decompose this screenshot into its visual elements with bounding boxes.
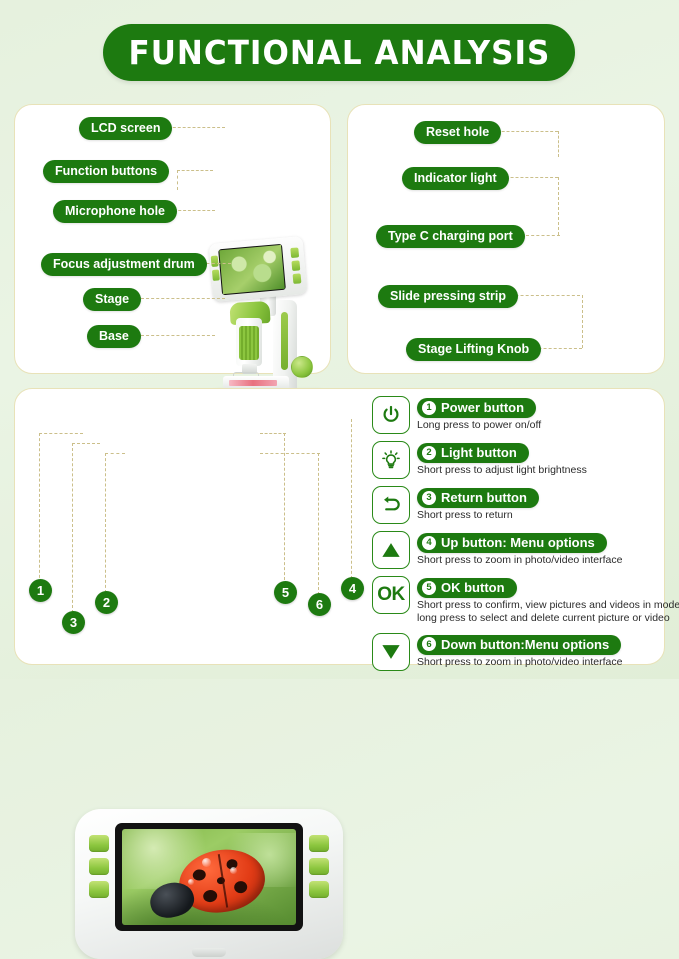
leader-line-callout-5	[284, 433, 285, 585]
callout-number-4: 4	[341, 577, 364, 600]
leader-line-function-buttons	[177, 170, 213, 171]
callout-number-6: 6	[308, 593, 331, 616]
label-focus-drum: Focus adjustment drum	[41, 253, 207, 276]
legend-label-up: Up button: Menu options	[441, 535, 595, 550]
label-lifting-knob: Stage Lifting Knob	[406, 338, 541, 361]
page-title: FUNCTIONAL ANALYSIS	[128, 33, 550, 72]
legend-pill-down: 6 Down button:Menu options	[417, 635, 621, 655]
label-stage: Stage	[83, 288, 141, 311]
ok-icon-text: OK	[377, 584, 405, 606]
callout-number-5: 5	[274, 581, 297, 604]
triangle-up-icon	[372, 531, 410, 569]
callout-number-3: 3	[62, 611, 85, 634]
page-title-banner: FUNCTIONAL ANALYSIS	[103, 24, 575, 81]
leader-line-typec-port	[526, 235, 560, 236]
leader-line-callout-6-h	[260, 453, 320, 454]
legend-badge-1: 1	[422, 401, 436, 415]
legend-desc-up: Short press to zoom in photo/video inter…	[417, 554, 662, 567]
legend-label-down: Down button:Menu options	[441, 637, 609, 652]
legend-label-ok: OK button	[441, 580, 505, 595]
leader-line-callout-3	[72, 443, 73, 613]
legend-badge-2: 2	[422, 446, 436, 460]
legend-row-light: 2 Light button Short press to adjust lig…	[372, 441, 662, 479]
legend-badge-5: 5	[422, 581, 436, 595]
infographic-page: FUNCTIONAL ANALYSIS	[0, 0, 679, 679]
device-button-5	[309, 858, 329, 875]
leader-line-callout-6	[318, 453, 319, 595]
callout-number-1: 1	[29, 579, 52, 602]
leader-line-callout-1-h	[39, 433, 83, 434]
legend-pill-light: 2 Light button	[417, 443, 529, 463]
leader-line-callout-1	[39, 433, 40, 583]
legend-desc-power: Long press to power on/off	[417, 419, 662, 432]
legend-badge-6: 6	[422, 637, 436, 651]
leader-line-stage	[141, 298, 225, 299]
label-lcd-screen: LCD screen	[79, 117, 172, 140]
lcd-head-part	[209, 236, 308, 302]
label-typec-port: Type C charging port	[376, 225, 525, 248]
panel-left: LCD screen Function buttons Microphone h…	[14, 104, 331, 374]
leader-line-callout-2-h	[105, 453, 125, 454]
legend-desc-down: Short press to zoom in photo/video inter…	[417, 656, 662, 669]
device-button-2	[89, 858, 109, 875]
device-button-6	[309, 881, 329, 898]
leader-line-base	[141, 335, 215, 336]
leader-line-lifting-knob-v	[582, 295, 583, 348]
button-legend-list: 1 Power button Long press to power on/of…	[372, 396, 662, 678]
legend-pill-power: 1 Power button	[417, 398, 536, 418]
legend-badge-4: 4	[422, 536, 436, 550]
legend-label-power: Power button	[441, 400, 524, 415]
legend-desc-ok: Short press to confirm, view pictures an…	[417, 599, 679, 612]
label-indicator-light: Indicator light	[402, 167, 509, 190]
legend-row-up: 4 Up button: Menu options Short press to…	[372, 531, 662, 569]
leader-line-callout-5-h	[260, 433, 286, 434]
device-button-4	[309, 835, 329, 852]
label-base: Base	[87, 325, 141, 348]
device-button-1	[89, 835, 109, 852]
legend-row-power: 1 Power button Long press to power on/of…	[372, 396, 662, 434]
focus-knob-part	[291, 356, 313, 378]
leader-line-callout-4	[351, 419, 352, 579]
lightbulb-icon	[372, 441, 410, 479]
legend-desc-light: Short press to adjust light brightness	[417, 464, 662, 477]
legend-label-light: Light button	[441, 445, 517, 460]
label-function-buttons: Function buttons	[43, 160, 169, 183]
leader-line-callout-2	[105, 453, 106, 593]
legend-pill-up: 4 Up button: Menu options	[417, 533, 607, 553]
screen-preview-image	[122, 829, 296, 925]
device-button-3	[89, 881, 109, 898]
leader-line-reset-hole	[492, 131, 558, 132]
return-arrow-icon	[372, 486, 410, 524]
ok-icon: OK	[372, 576, 410, 614]
leader-line-indicator-v	[558, 177, 559, 235]
panel-right: Reset hole Indicator light Type C chargi…	[347, 104, 665, 374]
triangle-down-icon	[372, 633, 410, 671]
legend-desc-return: Short press to return	[417, 509, 662, 522]
legend-label-return: Return button	[441, 490, 527, 505]
legend-row-ok: OK 5 OK button Short press to confirm, v…	[372, 576, 662, 626]
legend-row-down: 6 Down button:Menu options Short press t…	[372, 633, 662, 671]
legend-row-return: 3 Return button Short press to return	[372, 486, 662, 524]
label-slide-strip: Slide pressing strip	[378, 285, 518, 308]
label-microphone-hole: Microphone hole	[53, 200, 177, 223]
legend-pill-return: 3 Return button	[417, 488, 539, 508]
leader-line-function-buttons-v	[177, 170, 178, 190]
power-icon	[372, 396, 410, 434]
label-reset-hole: Reset hole	[414, 121, 501, 144]
callout-number-2: 2	[95, 591, 118, 614]
leader-line-lcd-screen	[163, 127, 225, 128]
legend-pill-ok: 5 OK button	[417, 578, 517, 598]
leader-line-callout-3-h	[72, 443, 100, 444]
legend-desc-ok-2: long press to select and delete current …	[417, 612, 679, 625]
legend-badge-3: 3	[422, 491, 436, 505]
handheld-microscope-image	[75, 809, 343, 959]
leader-line-reset-hole-v	[558, 131, 559, 157]
